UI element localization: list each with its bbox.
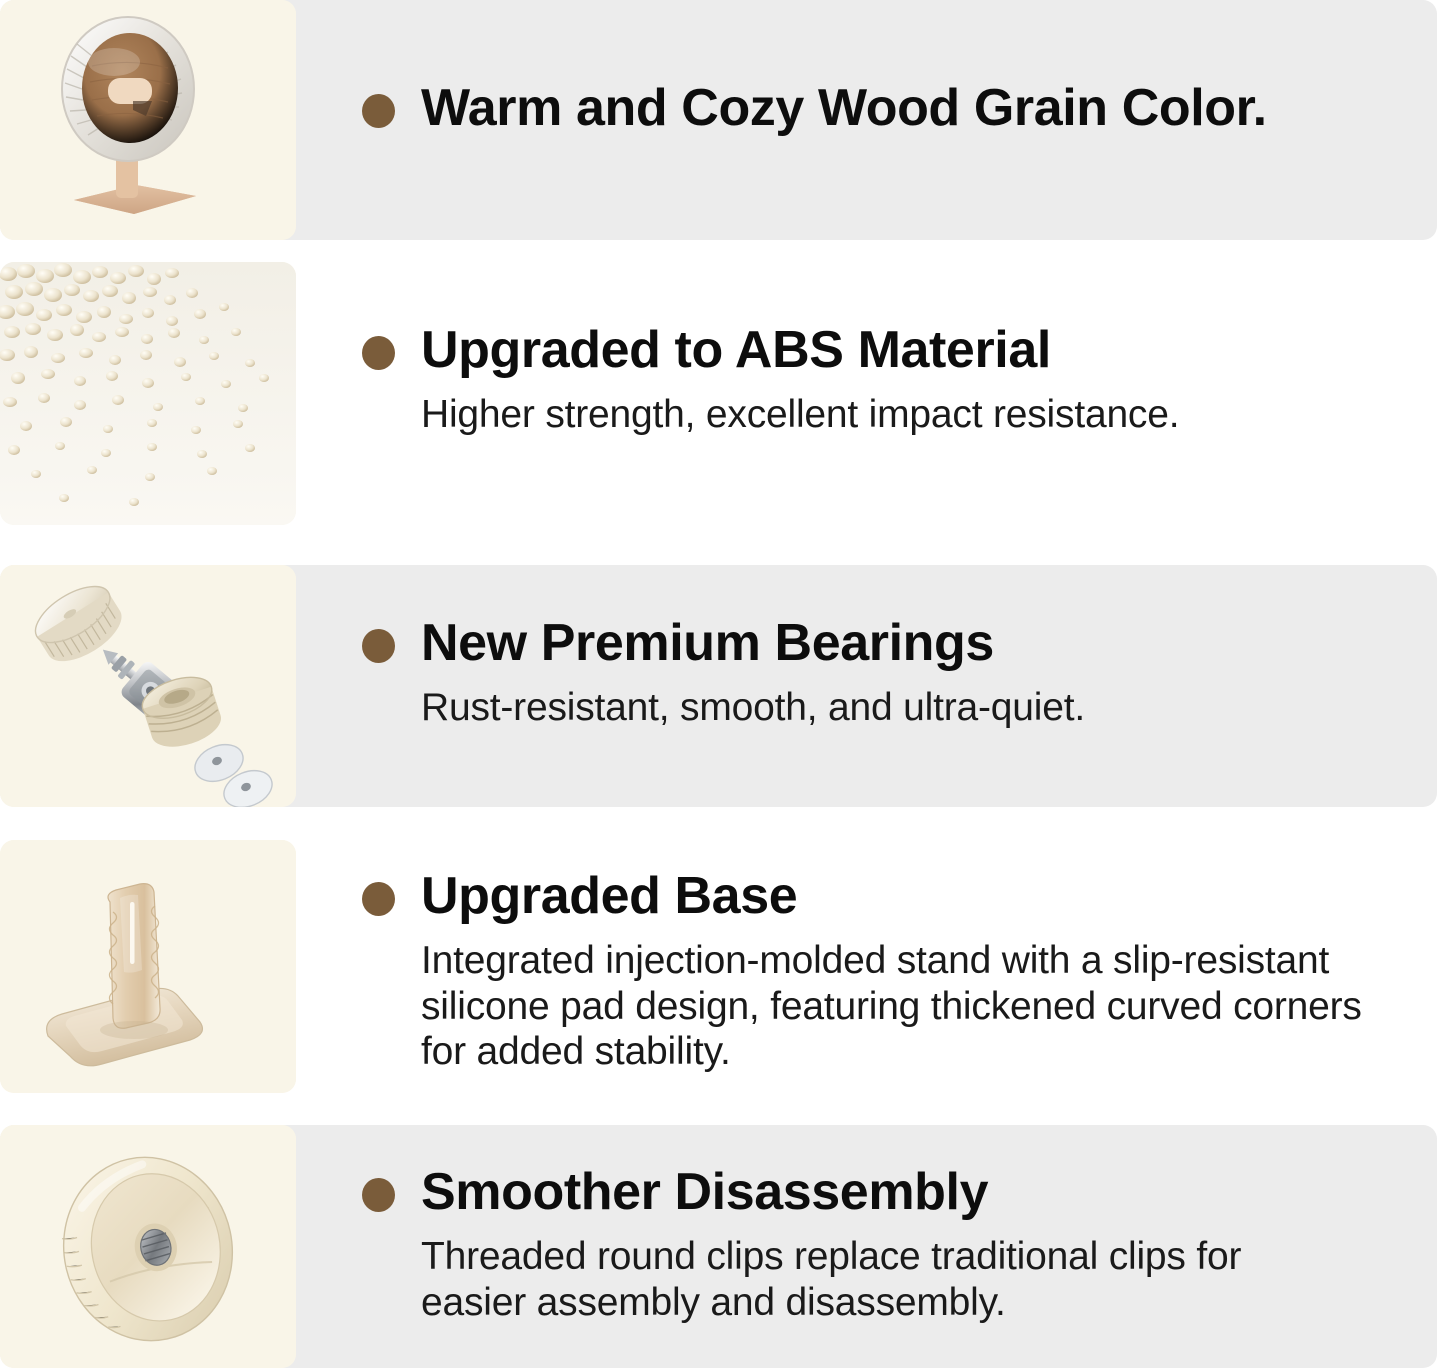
- feature-description: Rust-resistant, smooth, and ultra-quiet.: [421, 685, 1422, 730]
- feature-row: Warm and Cozy Wood Grain Color.: [0, 0, 1445, 240]
- feature-heading-line: New Premium Bearings: [362, 613, 1422, 673]
- feature-text-block: Upgraded Base Integrated injection-molde…: [362, 866, 1422, 1074]
- feature-thumbnail-exploded-bearing-assembly: [0, 565, 296, 807]
- feature-thumbnail-threaded-round-clip-disc: [0, 1125, 296, 1368]
- feature-heading: Warm and Cozy Wood Grain Color.: [421, 78, 1267, 138]
- feature-heading: Upgraded to ABS Material: [421, 320, 1051, 380]
- bullet-dot-icon: [362, 94, 395, 128]
- feature-heading: New Premium Bearings: [421, 613, 994, 673]
- feature-text-block: Warm and Cozy Wood Grain Color.: [362, 78, 1422, 138]
- product-feature-list: Warm and Cozy Wood Grain Color.: [0, 0, 1445, 1368]
- exploded-bearing-assembly-icon: [0, 565, 296, 807]
- abs-plastic-pellets-icon: [0, 262, 296, 525]
- feature-row: New Premium Bearings Rust-resistant, smo…: [0, 565, 1445, 807]
- feature-text-block: Smoother Disassembly Threaded round clip…: [362, 1162, 1422, 1325]
- bullet-dot-icon: [362, 336, 395, 370]
- feature-row: Upgraded Base Integrated injection-molde…: [0, 840, 1445, 1102]
- feature-heading-line: Upgraded Base: [362, 866, 1422, 926]
- feature-heading-line: Upgraded to ABS Material: [362, 320, 1422, 380]
- feature-heading-line: Warm and Cozy Wood Grain Color.: [362, 78, 1422, 138]
- feature-thumbnail-injection-molded-stand-base: [0, 840, 296, 1093]
- feature-description-line: Integrated injection-molded stand with a…: [421, 938, 1422, 983]
- injection-molded-stand-base-icon: [0, 840, 296, 1093]
- feature-text-block: New Premium Bearings Rust-resistant, smo…: [362, 613, 1422, 731]
- feature-row: Smoother Disassembly Threaded round clip…: [0, 1125, 1445, 1368]
- wood-grain-fan-on-stand-icon: [0, 0, 296, 240]
- feature-text-block: Upgraded to ABS Material Higher strength…: [362, 320, 1422, 438]
- feature-description: Threaded round clips replace traditional…: [421, 1234, 1422, 1324]
- feature-description-line: for added stability.: [421, 1029, 1422, 1074]
- feature-description-line: easier assembly and disassembly.: [421, 1280, 1422, 1325]
- feature-description-line: Rust-resistant, smooth, and ultra-quiet.: [421, 685, 1422, 730]
- bullet-dot-icon: [362, 882, 395, 916]
- feature-description: Higher strength, excellent impact resist…: [421, 392, 1422, 437]
- bullet-dot-icon: [362, 629, 395, 663]
- feature-description-line: silicone pad design, featuring thickened…: [421, 984, 1422, 1029]
- feature-heading-line: Smoother Disassembly: [362, 1162, 1422, 1222]
- feature-description-line: Threaded round clips replace traditional…: [421, 1234, 1422, 1279]
- feature-heading: Smoother Disassembly: [421, 1162, 988, 1222]
- threaded-round-clip-disc-icon: [0, 1125, 296, 1368]
- feature-description: Integrated injection-molded stand with a…: [421, 938, 1422, 1074]
- feature-heading: Upgraded Base: [421, 866, 797, 926]
- feature-description-line: Higher strength, excellent impact resist…: [421, 392, 1422, 437]
- feature-thumbnail-abs-plastic-pellets: [0, 262, 296, 525]
- bullet-dot-icon: [362, 1178, 395, 1212]
- feature-row: Upgraded to ABS Material Higher strength…: [0, 262, 1445, 530]
- feature-thumbnail-wood-grain-fan-on-stand: [0, 0, 296, 240]
